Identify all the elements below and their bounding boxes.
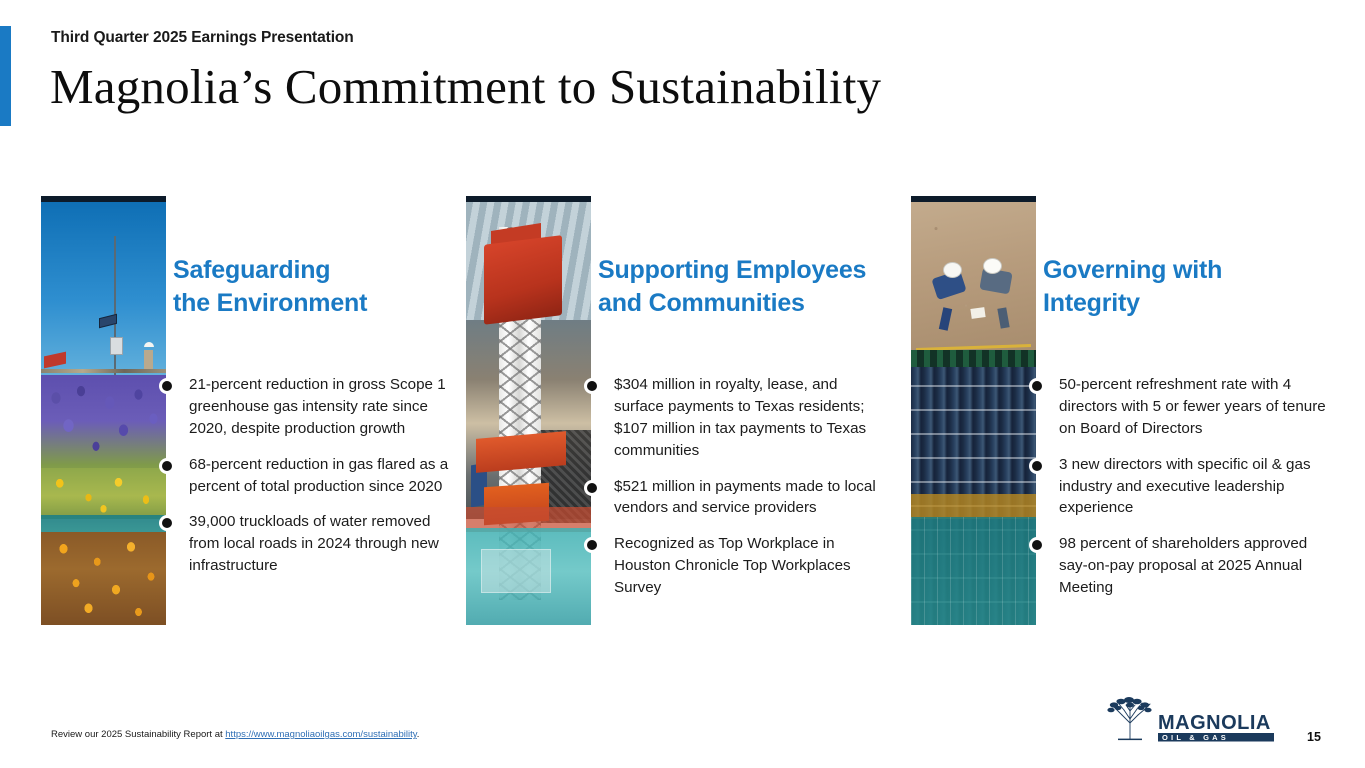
column-heading-line1: Supporting Employees xyxy=(598,256,866,284)
list-item: 50-percent refreshment rate with 4 direc… xyxy=(1029,374,1334,440)
bullet-list-employees: $304 million in royalty, lease, and surf… xyxy=(584,374,884,599)
bullet-list-environment: 21-percent reduction in gross Scope 1 gr… xyxy=(159,374,459,577)
column-heading-line2: and Communities xyxy=(598,287,888,320)
list-item: 3 new directors with specific oil & gas … xyxy=(1029,454,1334,520)
list-item: 98 percent of shareholders approved say-… xyxy=(1029,533,1334,599)
footnote-suffix: . xyxy=(417,729,420,740)
list-item-text: 3 new directors with specific oil & gas … xyxy=(1059,456,1311,517)
content-column-employees: Supporting Employees and Communities $30… xyxy=(466,196,886,626)
sustainability-report-link[interactable]: https://www.magnoliaoilgas.com/sustainab… xyxy=(225,729,417,740)
bullet-dot-icon xyxy=(584,480,600,496)
list-item-text: 68-percent reduction in gas flared as a … xyxy=(189,456,448,495)
presentation-eyebrow: Third Quarter 2025 Earnings Presentation xyxy=(51,29,354,47)
bullet-dot-icon xyxy=(584,537,600,553)
list-item: Recognized as Top Workplace in Houston C… xyxy=(584,533,884,599)
list-item-text: 39,000 truckloads of water removed from … xyxy=(189,513,439,574)
content-column-environment: Safeguarding the Environment 21-percent … xyxy=(41,196,461,626)
content-column-governance: Governing with Integrity 50-percent refr… xyxy=(911,196,1331,626)
list-item-text: $304 million in royalty, lease, and surf… xyxy=(614,376,866,459)
page-number: 15 xyxy=(1307,730,1321,744)
svg-text:OIL & GAS: OIL & GAS xyxy=(1162,733,1229,742)
column-heading-line2: Integrity xyxy=(1043,287,1333,320)
list-item: $304 million in royalty, lease, and surf… xyxy=(584,374,884,462)
bullet-dot-icon xyxy=(1029,458,1045,474)
bullet-dot-icon xyxy=(159,458,175,474)
footnote-prefix: Review our 2025 Sustainability Report at xyxy=(51,729,225,740)
slide-canvas: Third Quarter 2025 Earnings Presentation… xyxy=(0,0,1365,768)
list-item-text: 21-percent reduction in gross Scope 1 gr… xyxy=(189,376,446,437)
svg-text:MAGNOLIA: MAGNOLIA xyxy=(1158,712,1271,734)
list-item-text: $521 million in payments made to local v… xyxy=(614,478,876,517)
bullet-dot-icon xyxy=(1029,378,1045,394)
magnolia-oil-and-gas-logo: MAGNOLIA OIL & GAS xyxy=(1100,693,1280,749)
column-heading-line1: Governing with xyxy=(1043,256,1222,284)
page-title: Magnolia’s Commitment to Sustainability xyxy=(50,58,881,115)
list-item-text: 98 percent of shareholders approved say-… xyxy=(1059,535,1307,596)
bullet-list-governance: 50-percent refreshment rate with 4 direc… xyxy=(1029,374,1334,599)
column-heading-employees: Supporting Employees and Communities xyxy=(598,254,888,321)
photo-environment xyxy=(41,196,166,625)
list-item: 21-percent reduction in gross Scope 1 gr… xyxy=(159,374,459,440)
list-item: 39,000 truckloads of water removed from … xyxy=(159,511,459,577)
title-accent-bar xyxy=(0,26,11,126)
bullet-dot-icon xyxy=(159,378,175,394)
photo-employees xyxy=(466,196,591,625)
column-heading-governance: Governing with Integrity xyxy=(1043,254,1333,321)
column-heading-environment: Safeguarding the Environment xyxy=(173,254,463,321)
list-item-text: 50-percent refreshment rate with 4 direc… xyxy=(1059,376,1326,437)
bullet-dot-icon xyxy=(584,378,600,394)
footnote: Review our 2025 Sustainability Report at… xyxy=(51,729,419,740)
column-heading-line1: Safeguarding xyxy=(173,256,330,284)
photo-governance xyxy=(911,196,1036,625)
column-heading-line2: the Environment xyxy=(173,287,463,320)
bullet-dot-icon xyxy=(1029,537,1045,553)
list-item-text: Recognized as Top Workplace in Houston C… xyxy=(614,535,851,596)
bullet-dot-icon xyxy=(159,515,175,531)
list-item: $521 million in payments made to local v… xyxy=(584,476,884,520)
list-item: 68-percent reduction in gas flared as a … xyxy=(159,454,459,498)
